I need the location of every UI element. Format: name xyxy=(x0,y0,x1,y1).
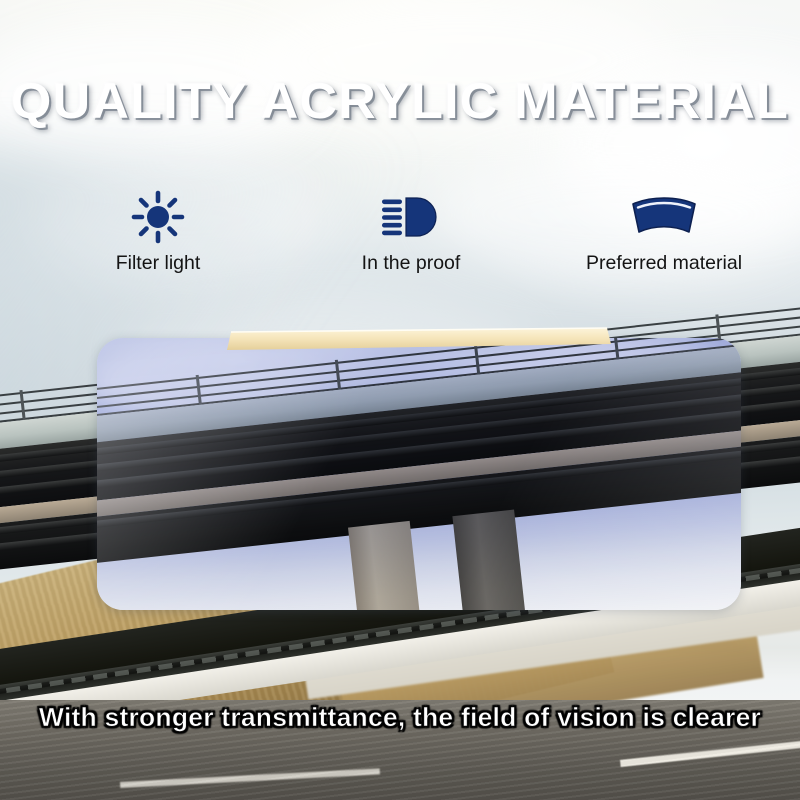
feature-item-in-the-proof: In the proof xyxy=(301,186,521,275)
headlight-icon xyxy=(301,186,521,248)
feature-item-filter-light: Filter light xyxy=(48,186,268,275)
sun-icon xyxy=(48,186,268,248)
car-visor-icon xyxy=(554,186,774,248)
visor-mounting-clip[interactable] xyxy=(215,326,615,358)
bottom-caption: With stronger transmittance, the field o… xyxy=(0,702,800,733)
feature-item-preferred-material: Preferred material xyxy=(554,186,774,275)
feature-label: In the proof xyxy=(301,252,521,275)
car-sun-visor-panel[interactable] xyxy=(97,338,741,610)
feature-label: Filter light xyxy=(48,252,268,275)
feature-list: Filter light In the proof xyxy=(60,186,760,296)
railing-post xyxy=(19,390,25,420)
page-title: QUALITY ACRYLIC MATERIAL xyxy=(0,72,800,130)
feature-label: Preferred material xyxy=(554,252,774,275)
visor-blue-tint xyxy=(97,338,741,610)
product-marketing-image: QUALITY ACRYLIC MATERIAL xyxy=(0,0,800,800)
